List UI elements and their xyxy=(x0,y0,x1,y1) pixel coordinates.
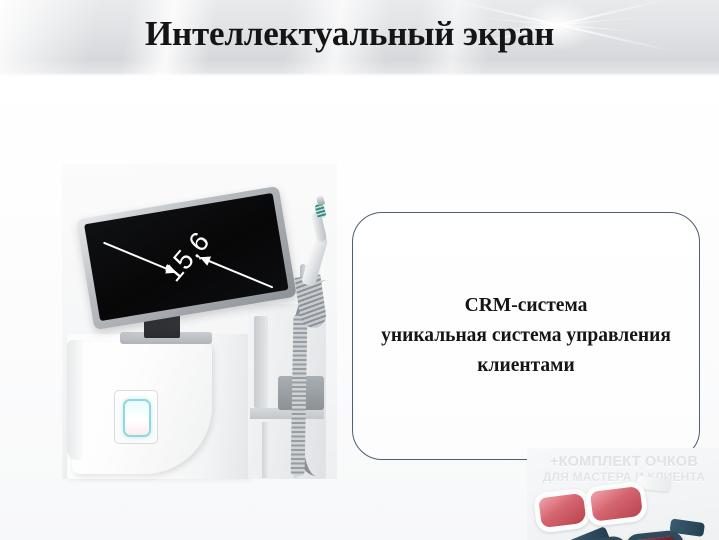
glasses-watermark-line-1: +КОМПЛЕКТ ОЧКОВ xyxy=(536,454,712,470)
crm-callout-text: CRM-система уникальная система управлени… xyxy=(353,291,699,381)
machine-leg-left xyxy=(262,422,269,478)
screen-display-area: 15,6 xyxy=(84,193,289,321)
crm-line-3: клиентами xyxy=(359,351,693,381)
machine-power-indicator-icon xyxy=(123,399,151,437)
slide-canvas: Интеллектуальный экран 15,6 xyxy=(0,0,719,540)
slide-body: 15,6 CRM-система уникальная система упра… xyxy=(0,76,719,540)
diagonal-arrow-icon xyxy=(201,256,274,288)
header-banner: Интеллектуальный экран xyxy=(0,0,719,76)
laser-hose-ribs xyxy=(291,314,308,476)
page-title: Интеллектуальный экран xyxy=(145,11,554,57)
handpiece-cap xyxy=(316,195,325,206)
handpiece-body xyxy=(301,233,329,287)
screen-diagonal-label: 15,6 xyxy=(157,226,216,288)
crm-line-2: уникальная система управления xyxy=(359,321,693,351)
safety-glasses-photo: +КОМПЛЕКТ ОЧКОВ ДЛЯ МАСТЕРА И КЛИЕНТА xyxy=(527,448,719,540)
glasses-lens-right xyxy=(584,480,648,527)
machine-tower-slot xyxy=(254,316,268,408)
crm-callout-box: CRM-система уникальная система управлени… xyxy=(352,212,700,460)
machine-front-edge xyxy=(67,340,83,460)
laser-machine-photo: 15,6 xyxy=(62,164,337,479)
crm-line-1: CRM-система xyxy=(359,291,693,321)
